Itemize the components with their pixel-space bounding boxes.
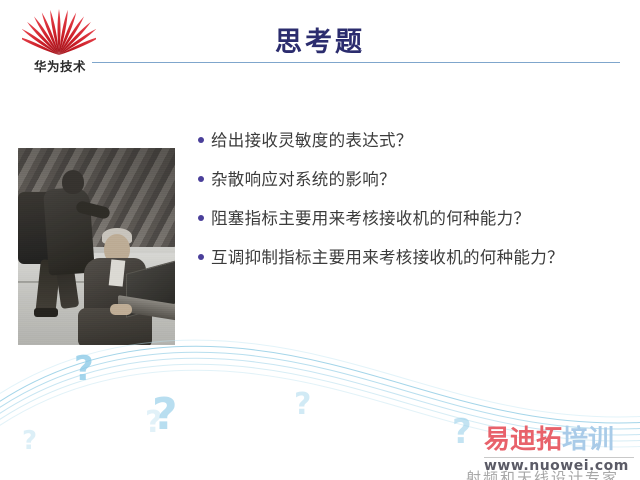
question-list: 给出接收灵敏度的表达式？ 杂散响应对系统的影响？ 阻塞指标主要用来考核接收机的何… [198, 128, 618, 284]
question-mark-icon: ? [22, 428, 37, 454]
watermark-tagline: 射频和天线设计专家 [466, 467, 619, 480]
presentation-slide: 华为技术 思考题 给出接收灵敏度的表达式？ [0, 0, 640, 480]
question-mark-icon: ? [294, 390, 311, 420]
bullet-dot-icon [198, 176, 204, 182]
title-divider [92, 62, 620, 63]
watermark-logo-blue: 培训 [562, 425, 614, 455]
photo-grain-overlay [18, 148, 175, 345]
watermark-logo: 易迪拓培训 [484, 425, 614, 455]
question-mark-icon: ? [452, 415, 472, 449]
question-mark-icon: ? [74, 352, 94, 386]
list-item: 杂散响应对系统的影响？ [198, 167, 618, 193]
bullet-dot-icon [198, 215, 204, 221]
list-item-label: 给出接收灵敏度的表达式？ [211, 128, 413, 154]
question-mark-icon: ? [152, 393, 178, 437]
list-item-label: 互调抑制指标主要用来考核接收机的何种能力？ [211, 245, 564, 271]
watermark-logo-red: 易迪拓 [484, 425, 562, 455]
list-item: 给出接收灵敏度的表达式？ [198, 128, 618, 154]
list-item-label: 阻塞指标主要用来考核接收机的何种能力？ [211, 206, 530, 232]
businessmen-photo [18, 148, 175, 345]
list-item: 互调抑制指标主要用来考核接收机的何种能力？ [198, 245, 618, 271]
watermark: 易迪拓培训 www.nuowei.com 射频和天线设计专家 [484, 425, 636, 477]
page-title: 思考题 [0, 20, 640, 59]
list-item-label: 杂散响应对系统的影响？ [211, 167, 396, 193]
list-item: 阻塞指标主要用来考核接收机的何种能力？ [198, 206, 618, 232]
bullet-dot-icon [198, 254, 204, 260]
bullet-dot-icon [198, 137, 204, 143]
